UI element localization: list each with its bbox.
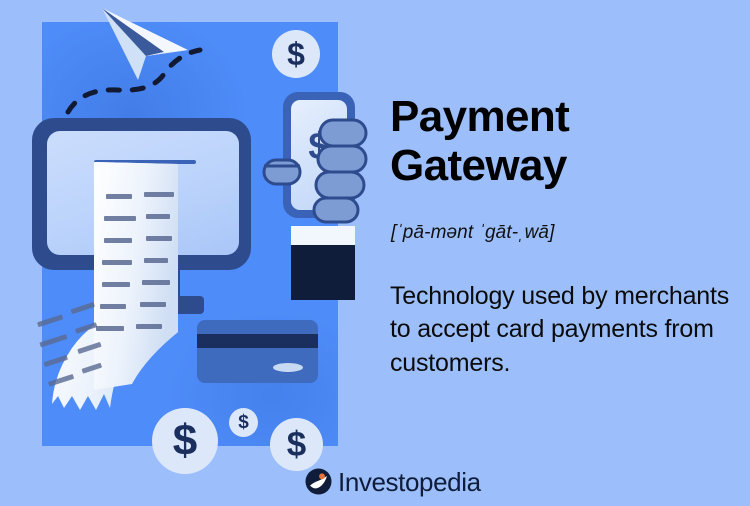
card-hologram — [273, 363, 303, 372]
text-column: Payment Gateway [ˈpā-mənt ˈgāt-ˌwā] Tech… — [390, 0, 740, 506]
magnetic-stripe — [197, 334, 318, 348]
definition-text: Technology used by merchants to accept c… — [390, 280, 732, 380]
brand-name: Investopedia — [338, 469, 481, 495]
coin-symbol: $ — [173, 419, 197, 463]
pronunciation: [ˈpā-mənt ˈgāt-ˌwā] — [391, 222, 554, 244]
illustration: $ $ $ $ $ — [0, 0, 380, 506]
hand-holding-phone — [262, 116, 370, 234]
coin-top-right: $ — [272, 30, 320, 78]
term-title-line1: Payment — [390, 93, 730, 142]
payment-gateway-definition-card: $ $ $ $ $ — [0, 0, 750, 506]
credit-card — [197, 320, 318, 383]
paper-airplane-icon — [98, 6, 190, 84]
coin-symbol: $ — [238, 413, 249, 432]
coin-medium: $ — [270, 418, 323, 471]
coin-symbol: $ — [287, 427, 306, 462]
receipt-paper — [28, 160, 208, 430]
term-title: Payment Gateway — [390, 93, 730, 191]
term-title-line2: Gateway — [390, 142, 730, 191]
investopedia-mark-icon — [305, 468, 332, 495]
coin-symbol: $ — [287, 38, 305, 70]
investopedia-logo: Investopedia — [305, 468, 481, 495]
coin-small: $ — [229, 408, 258, 437]
coin-large: $ — [152, 408, 218, 474]
sleeve — [291, 244, 355, 300]
